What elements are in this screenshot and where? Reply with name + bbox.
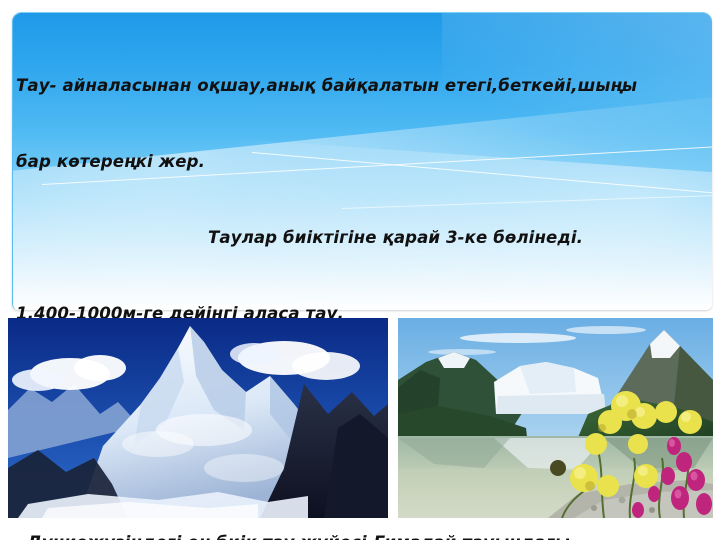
photo-snow-peak bbox=[8, 318, 388, 518]
text-line-definition-1: Тау- айналасынан оқшау,анық байқалатын е… bbox=[16, 73, 706, 98]
photo-snow-peak-graphic bbox=[8, 318, 388, 518]
text-line-heading: Таулар биіктігіне қарай 3-ке бөлінеді. bbox=[16, 225, 706, 250]
photo-lake-flowers bbox=[398, 318, 713, 518]
text-line-definition-2: бар көтереңкі жер. bbox=[16, 149, 706, 174]
slide-canvas: Тау- айналасынан оқшау,анық байқалатын е… bbox=[0, 0, 720, 540]
text-line-highest-1: Дүниежүзіндегі ең биік тау жүйесі-Гимала… bbox=[16, 530, 706, 540]
photo-lake-flowers-graphic bbox=[398, 318, 713, 518]
